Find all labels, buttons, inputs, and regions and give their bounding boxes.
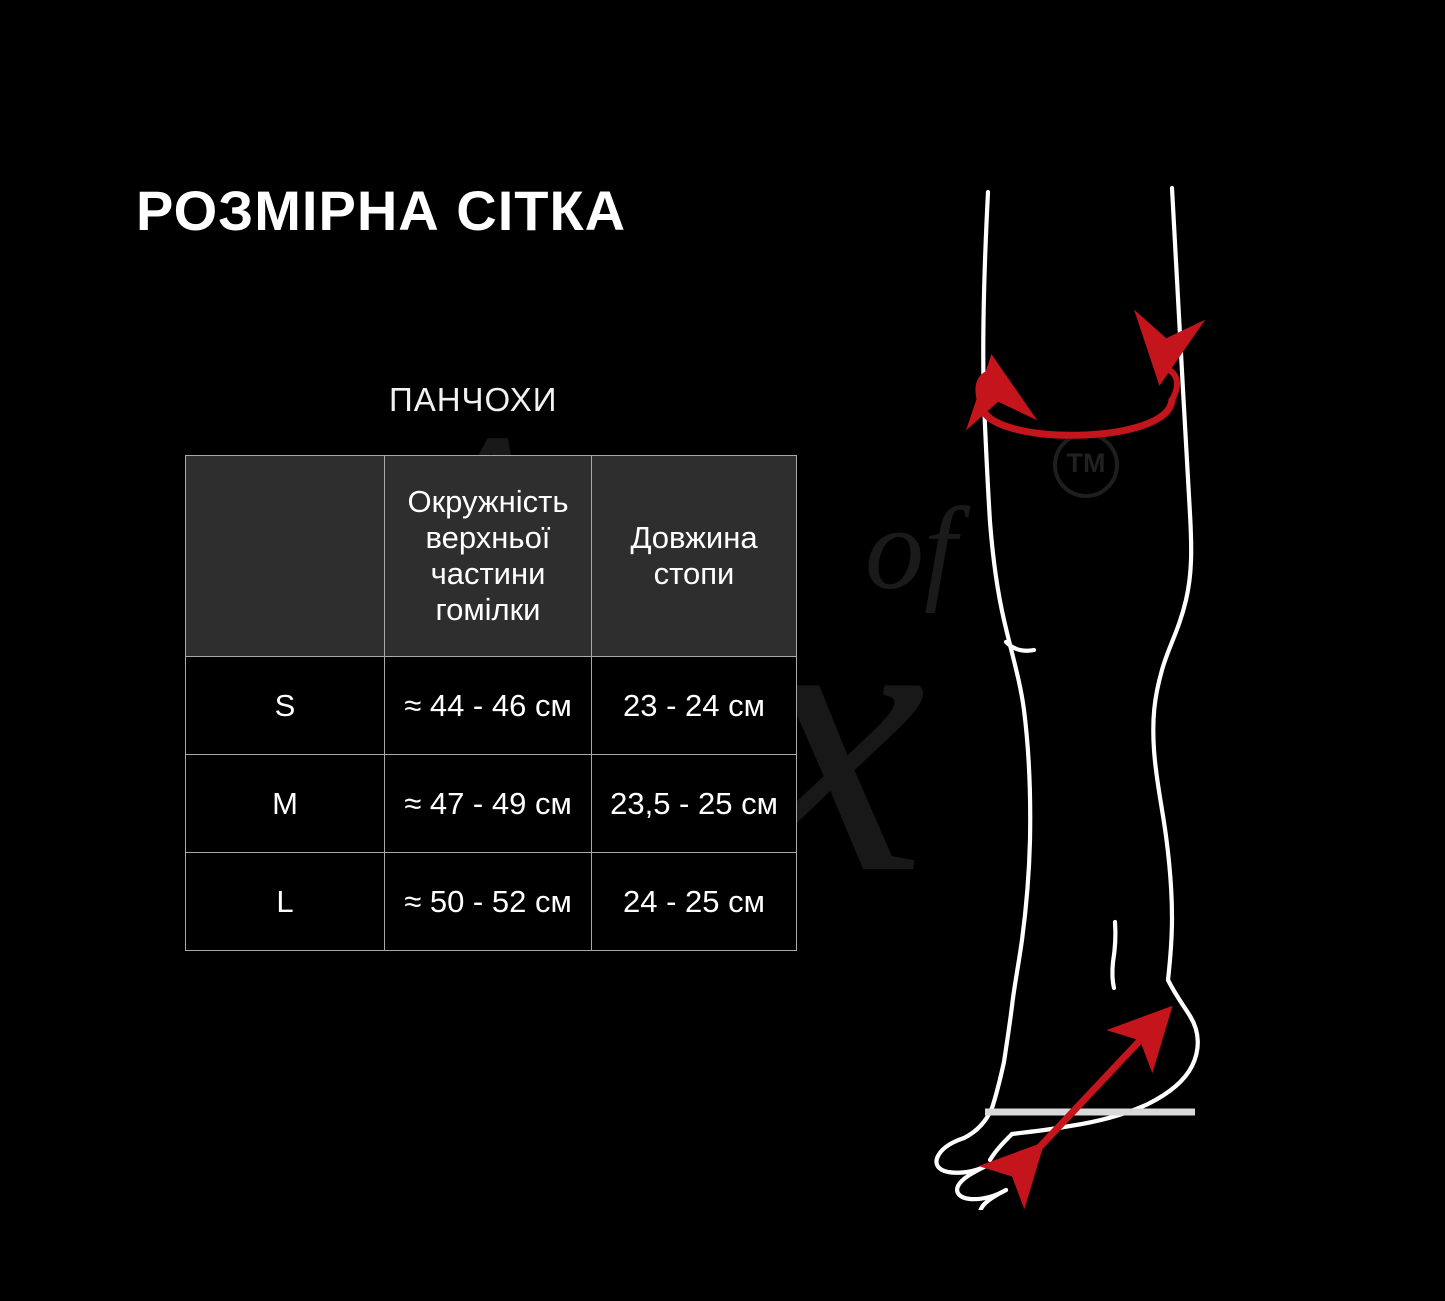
cell-size: L	[186, 853, 385, 951]
cell-circumference: ≈ 47 - 49 см	[385, 755, 592, 853]
header-size	[186, 456, 385, 657]
section-label-stockings: ПАНЧОХИ	[389, 381, 557, 419]
table-header-row: Окружність верхньої частини гомілки Довж…	[186, 456, 797, 657]
leg-illustration	[900, 150, 1320, 1210]
size-chart-table: Окружність верхньої частини гомілки Довж…	[185, 455, 797, 951]
cell-foot-length: 23 - 24 см	[592, 657, 797, 755]
header-foot-length: Довжина стопи	[592, 456, 797, 657]
table-row: S ≈ 44 - 46 см 23 - 24 см	[186, 657, 797, 755]
leg-outline	[983, 188, 1191, 1062]
foot-length-arrow	[1035, 1016, 1163, 1152]
table-header: Окружність верхньої частини гомілки Довж…	[186, 456, 797, 657]
table-row: L ≈ 50 - 52 см 24 - 25 см	[186, 853, 797, 951]
calf-circumference-ring	[978, 368, 1177, 435]
cell-size: S	[186, 657, 385, 755]
table-row: M ≈ 47 - 49 см 23,5 - 25 см	[186, 755, 797, 853]
table-body: S ≈ 44 - 46 см 23 - 24 см M ≈ 47 - 49 см…	[186, 657, 797, 951]
foot-outline	[936, 980, 1197, 1210]
cell-circumference: ≈ 44 - 46 см	[385, 657, 592, 755]
page-title: РОЗМІРНА СІТКА	[136, 178, 626, 243]
cell-foot-length: 24 - 25 см	[592, 853, 797, 951]
cell-size: M	[186, 755, 385, 853]
size-chart-canvas: Art of Sex TM РОЗМІРНА СІТКА ПАНЧОХИ Окр…	[0, 0, 1445, 1301]
cell-circumference: ≈ 50 - 52 см	[385, 853, 592, 951]
cell-foot-length: 23,5 - 25 см	[592, 755, 797, 853]
header-calf-circumference: Окружність верхньої частини гомілки	[385, 456, 592, 657]
